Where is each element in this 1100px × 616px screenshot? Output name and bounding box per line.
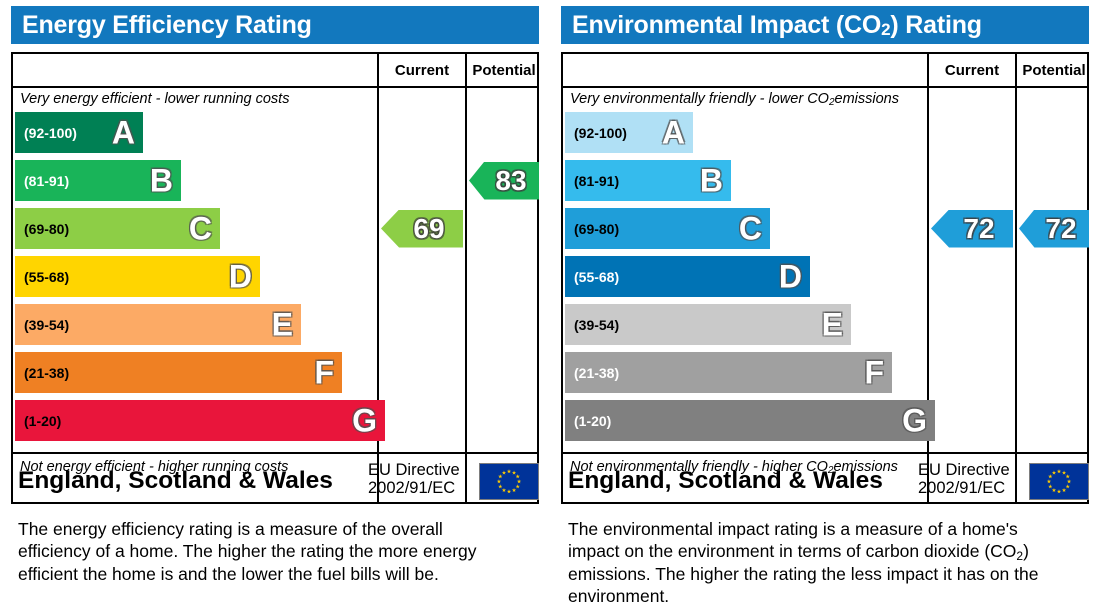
band-bar-g: (1-20)G bbox=[15, 400, 385, 441]
band-row-g: (1-20)G bbox=[565, 400, 925, 444]
co2-band-bars: (92-100)A(81-91)B(69-80)C(55-68)D(39-54)… bbox=[565, 112, 925, 452]
co2-rating-table: Current Potential Very environmentally f… bbox=[561, 52, 1089, 504]
co2-potential-rating-arrow: 72 bbox=[1019, 210, 1089, 248]
eu-star bbox=[1057, 489, 1061, 493]
co2-current-rating-arrow: 72 bbox=[931, 210, 1013, 248]
band-bar-c: (69-80)C bbox=[15, 208, 220, 249]
band-range-label-e: (39-54) bbox=[574, 317, 619, 333]
eu-star bbox=[512, 488, 516, 492]
band-letter-d: D bbox=[229, 260, 252, 292]
eu-star bbox=[1066, 474, 1070, 478]
band-letter-g: G bbox=[902, 404, 927, 436]
eu-star bbox=[1048, 474, 1052, 478]
rating-value: 69 bbox=[413, 213, 444, 245]
band-row-a: (92-100)A bbox=[15, 112, 375, 156]
co2-description: The environmental impact rating is a mea… bbox=[568, 518, 1068, 608]
co2-directive-line2: 2002/91/EC bbox=[918, 479, 1010, 497]
eu-star bbox=[507, 469, 511, 473]
eu-stars-icon bbox=[1030, 464, 1088, 499]
energy-rating-table: Current Potential Very energy efficient … bbox=[11, 52, 539, 504]
eu-star bbox=[1066, 484, 1070, 488]
band-bar-d: (55-68)D bbox=[565, 256, 810, 297]
band-row-a: (92-100)A bbox=[565, 112, 925, 156]
co2-footer: England, Scotland & Wales EU Directive 2… bbox=[561, 458, 1089, 504]
band-bar-e: (39-54)E bbox=[15, 304, 301, 345]
band-row-d: (55-68)D bbox=[15, 256, 375, 300]
band-letter-e: E bbox=[272, 308, 293, 340]
band-range-label-g: (1-20) bbox=[574, 413, 611, 429]
band-bar-f: (21-38)F bbox=[565, 352, 892, 393]
eu-star bbox=[516, 474, 520, 478]
energy-panel-title: Energy Efficiency Rating bbox=[11, 6, 539, 44]
band-row-f: (21-38)F bbox=[15, 352, 375, 396]
co2-caption-top-part1: Very environmentally friendly - lower CO bbox=[570, 91, 829, 107]
band-bar-g: (1-20)G bbox=[565, 400, 935, 441]
band-bar-b: (81-91)B bbox=[15, 160, 181, 201]
band-row-b: (81-91)B bbox=[565, 160, 925, 204]
band-range-label-f: (21-38) bbox=[574, 365, 619, 381]
eu-star bbox=[1047, 479, 1051, 483]
epc-chart-page: Energy Efficiency Rating Current Potenti… bbox=[0, 0, 1100, 616]
rating-value: 72 bbox=[963, 213, 994, 245]
energy-efficiency-panel: Energy Efficiency Rating Current Potenti… bbox=[0, 0, 550, 616]
eu-star bbox=[502, 488, 506, 492]
band-bar-d: (55-68)D bbox=[15, 256, 260, 297]
eu-star bbox=[517, 479, 521, 483]
energy-header-current: Current bbox=[379, 54, 465, 86]
band-row-c: (69-80)C bbox=[565, 208, 925, 252]
band-range-label-b: (81-91) bbox=[574, 173, 619, 189]
energy-footer: England, Scotland & Wales EU Directive 2… bbox=[11, 458, 539, 504]
co2-description-part1: The environmental impact rating is a mea… bbox=[568, 519, 1018, 561]
co2-footer-directive: EU Directive 2002/91/EC bbox=[918, 461, 1010, 498]
eu-flag-icon bbox=[479, 463, 539, 500]
band-bar-c: (69-80)C bbox=[565, 208, 770, 249]
energy-footer-region: England, Scotland & Wales bbox=[18, 458, 333, 504]
eu-star bbox=[502, 471, 506, 475]
band-letter-b: B bbox=[150, 164, 173, 196]
co2-footer-region: England, Scotland & Wales bbox=[568, 458, 883, 504]
eu-star bbox=[1048, 484, 1052, 488]
band-letter-b: B bbox=[700, 164, 723, 196]
environmental-impact-panel: Environmental Impact (CO2) Rating Curren… bbox=[550, 0, 1100, 616]
potential-column-divider bbox=[1015, 54, 1017, 502]
band-bar-a: (92-100)A bbox=[15, 112, 143, 153]
band-range-label-c: (69-80) bbox=[574, 221, 619, 237]
band-row-e: (39-54)E bbox=[565, 304, 925, 348]
band-range-label-b: (81-91) bbox=[24, 173, 69, 189]
rating-value: 83 bbox=[495, 165, 526, 197]
band-letter-f: F bbox=[314, 356, 334, 388]
band-range-label-a: (92-100) bbox=[574, 125, 627, 141]
energy-current-rating-arrow: 69 bbox=[381, 210, 463, 248]
potential-column-divider bbox=[465, 54, 467, 502]
co2-directive-line1: EU Directive bbox=[918, 461, 1010, 479]
co2-description-subscript: 2 bbox=[1016, 549, 1023, 563]
band-range-label-g: (1-20) bbox=[24, 413, 61, 429]
band-range-label-e: (39-54) bbox=[24, 317, 69, 333]
co2-title-subscript: 2 bbox=[881, 20, 890, 40]
band-bar-a: (92-100)A bbox=[565, 112, 693, 153]
band-row-f: (21-38)F bbox=[565, 352, 925, 396]
eu-star bbox=[516, 484, 520, 488]
band-letter-d: D bbox=[779, 260, 802, 292]
band-letter-e: E bbox=[822, 308, 843, 340]
co2-title-text: Environmental Impact (CO bbox=[572, 11, 881, 40]
eu-star bbox=[498, 474, 502, 478]
band-row-e: (39-54)E bbox=[15, 304, 375, 348]
eu-star bbox=[1052, 488, 1056, 492]
co2-caption-top-part2: emissions bbox=[835, 91, 899, 107]
band-letter-c: C bbox=[739, 212, 762, 244]
band-letter-f: F bbox=[864, 356, 884, 388]
energy-header-potential: Potential bbox=[467, 54, 541, 86]
band-letter-a: A bbox=[662, 116, 685, 148]
eu-star bbox=[1052, 471, 1056, 475]
eu-star bbox=[1062, 471, 1066, 475]
eu-flag-icon bbox=[1029, 463, 1089, 500]
eu-star bbox=[497, 479, 501, 483]
band-row-b: (81-91)B bbox=[15, 160, 375, 204]
co2-header-current: Current bbox=[929, 54, 1015, 86]
band-letter-g: G bbox=[352, 404, 377, 436]
eu-star bbox=[1062, 488, 1066, 492]
eu-stars-icon bbox=[480, 464, 538, 499]
band-range-label-c: (69-80) bbox=[24, 221, 69, 237]
energy-title-text: Energy Efficiency Rating bbox=[22, 11, 312, 40]
energy-footer-directive: EU Directive 2002/91/EC bbox=[368, 461, 460, 498]
band-range-label-f: (21-38) bbox=[24, 365, 69, 381]
band-range-label-d: (55-68) bbox=[574, 269, 619, 285]
co2-caption-top-subscript: 2 bbox=[829, 97, 835, 108]
band-range-label-d: (55-68) bbox=[24, 269, 69, 285]
energy-directive-line1: EU Directive bbox=[368, 461, 460, 479]
co2-title-tail: ) Rating bbox=[890, 11, 981, 40]
energy-description-text: The energy efficiency rating is a measur… bbox=[18, 519, 477, 584]
eu-star bbox=[1057, 469, 1061, 473]
energy-band-bars: (92-100)A(81-91)B(69-80)C(55-68)D(39-54)… bbox=[15, 112, 375, 452]
co2-caption-top: Very environmentally friendly - lower CO… bbox=[570, 86, 926, 112]
co2-panel-title: Environmental Impact (CO2) Rating bbox=[561, 6, 1089, 44]
band-letter-a: A bbox=[112, 116, 135, 148]
band-bar-f: (21-38)F bbox=[15, 352, 342, 393]
energy-caption-top: Very energy efficient - lower running co… bbox=[20, 86, 376, 112]
band-row-c: (69-80)C bbox=[15, 208, 375, 252]
band-row-d: (55-68)D bbox=[565, 256, 925, 300]
band-range-label-a: (92-100) bbox=[24, 125, 77, 141]
rating-value: 72 bbox=[1045, 213, 1076, 245]
energy-directive-line2: 2002/91/EC bbox=[368, 479, 460, 497]
co2-header-potential: Potential bbox=[1017, 54, 1091, 86]
band-bar-b: (81-91)B bbox=[565, 160, 731, 201]
eu-star bbox=[512, 471, 516, 475]
band-bar-e: (39-54)E bbox=[565, 304, 851, 345]
eu-star bbox=[498, 484, 502, 488]
energy-potential-rating-arrow: 83 bbox=[469, 162, 539, 200]
band-letter-c: C bbox=[189, 212, 212, 244]
band-row-g: (1-20)G bbox=[15, 400, 375, 444]
energy-description: The energy efficiency rating is a measur… bbox=[18, 518, 518, 585]
eu-star bbox=[1067, 479, 1071, 483]
eu-star bbox=[507, 489, 511, 493]
